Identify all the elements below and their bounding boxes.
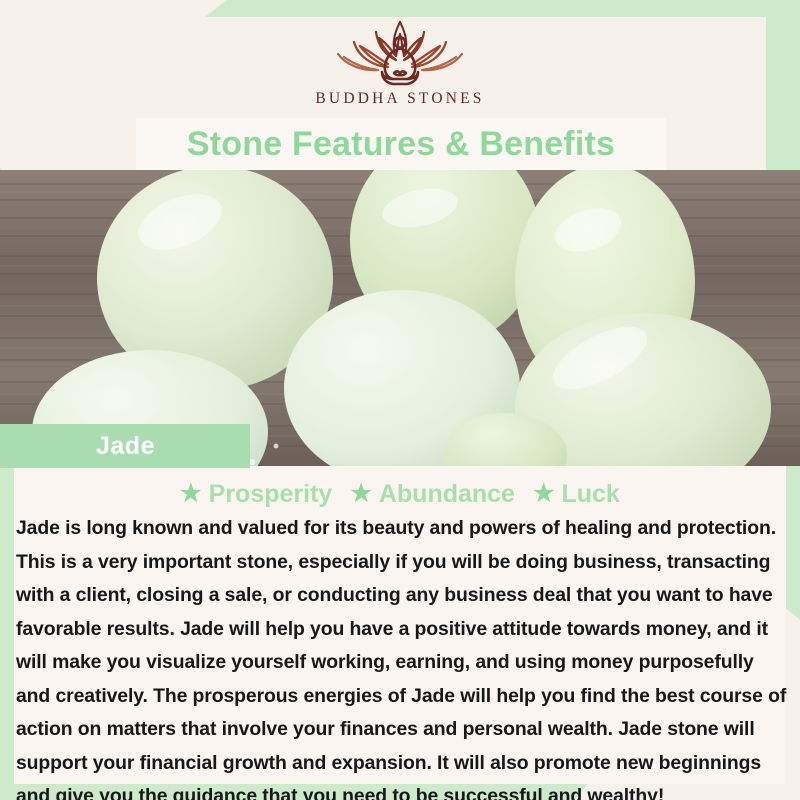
benefit-item-abundance: ★ Abundance [350, 480, 515, 509]
page-title: Stone Features & Benefits [187, 125, 615, 164]
benefits-row: ★ Prosperity ★ Abundance ★ Luck [0, 478, 800, 510]
description-text: Jade is long known and valued for its be… [16, 512, 788, 800]
benefit-label: Abundance [379, 480, 515, 509]
stone-name-bar: Jade [0, 424, 250, 468]
benefit-item-prosperity: ★ Prosperity [180, 480, 332, 509]
star-icon: ★ [350, 482, 372, 506]
benefit-item-luck: ★ Luck [533, 480, 620, 509]
stone-photo [0, 170, 800, 466]
brand-wordmark: BUDDHA STONES [315, 90, 484, 108]
star-icon: ★ [533, 482, 555, 506]
benefit-label: Luck [561, 480, 619, 509]
poster-canvas: BUDDHA STONES Stone Features & Benefits [0, 0, 800, 800]
benefit-label: Prosperity [209, 480, 333, 509]
star-icon: ★ [180, 482, 202, 506]
lotus-meditation-icon [330, 16, 470, 88]
stone-name-label: Jade [0, 432, 155, 461]
decor-top-band [205, 0, 800, 17]
brand-logo: BUDDHA STONES [0, 16, 800, 116]
headline-band: Stone Features & Benefits [136, 118, 666, 170]
stone-photo-illustration [0, 170, 800, 466]
